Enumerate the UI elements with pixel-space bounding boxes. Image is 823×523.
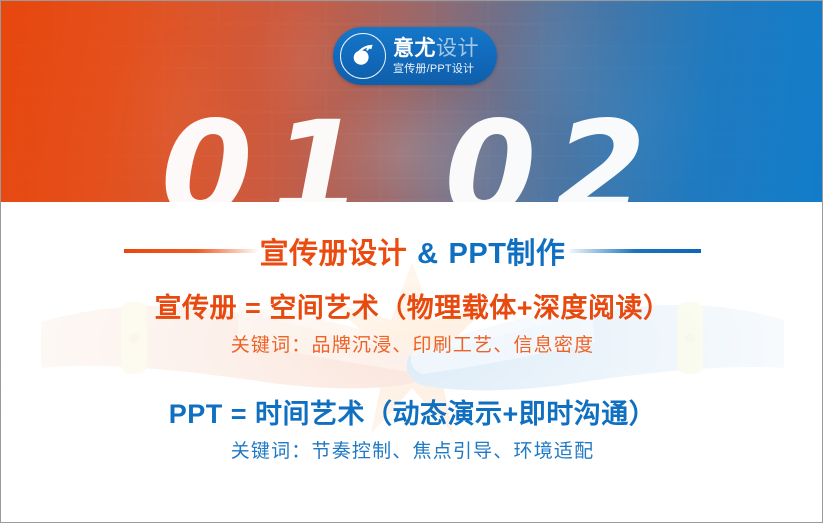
logo-name-light: 设计 xyxy=(436,37,479,60)
ppt-headline: PPT = 时间艺术（动态演示+即时沟通） xyxy=(1,398,823,430)
section-brochure: 宣传册 = 空间艺术（物理载体+深度阅读） 关键词：品牌沉浸、印刷工艺、信息密度 xyxy=(1,292,823,359)
logo-name-strong: 意尤 xyxy=(393,37,436,60)
title-rule-right xyxy=(569,249,701,253)
background-section-numbers: 01 02 xyxy=(1,104,823,202)
content-area: 宣传册设计&PPT制作 宣传册 = 空间艺术（物理载体+深度阅读） 关键词：品牌… xyxy=(1,202,823,522)
page-title-separator: & xyxy=(417,238,438,270)
ppt-keywords: 关键词：节奏控制、焦点引导、环境适配 xyxy=(1,440,823,465)
slide-canvas: 01 02 意尤设计 宣传册/PPT设计 xyxy=(0,0,823,523)
section-title-row: 宣传册设计&PPT制作 xyxy=(1,230,823,272)
header-banner: 01 02 意尤设计 宣传册/PPT设计 xyxy=(1,1,823,202)
title-rule-left xyxy=(124,249,256,253)
brochure-headline: 宣传册 = 空间艺术（物理载体+深度阅读） xyxy=(1,292,823,324)
page-title: 宣传册设计&PPT制作 xyxy=(256,230,570,272)
logo-text-block: 意尤设计 宣传册/PPT设计 xyxy=(393,38,479,75)
brochure-keywords: 关键词：品牌沉浸、印刷工艺、信息密度 xyxy=(1,334,823,359)
page-title-brochure: 宣传册设计 xyxy=(260,238,408,270)
section-ppt: PPT = 时间艺术（动态演示+即时沟通） 关键词：节奏控制、焦点引导、环境适配 xyxy=(1,398,823,465)
bird-pen-mark-icon xyxy=(340,33,386,79)
logo-name: 意尤设计 xyxy=(393,38,479,59)
logo-subtitle: 宣传册/PPT设计 xyxy=(393,64,479,75)
brand-logo[interactable]: 意尤设计 宣传册/PPT设计 xyxy=(333,27,497,85)
page-title-ppt: PPT制作 xyxy=(449,238,566,270)
